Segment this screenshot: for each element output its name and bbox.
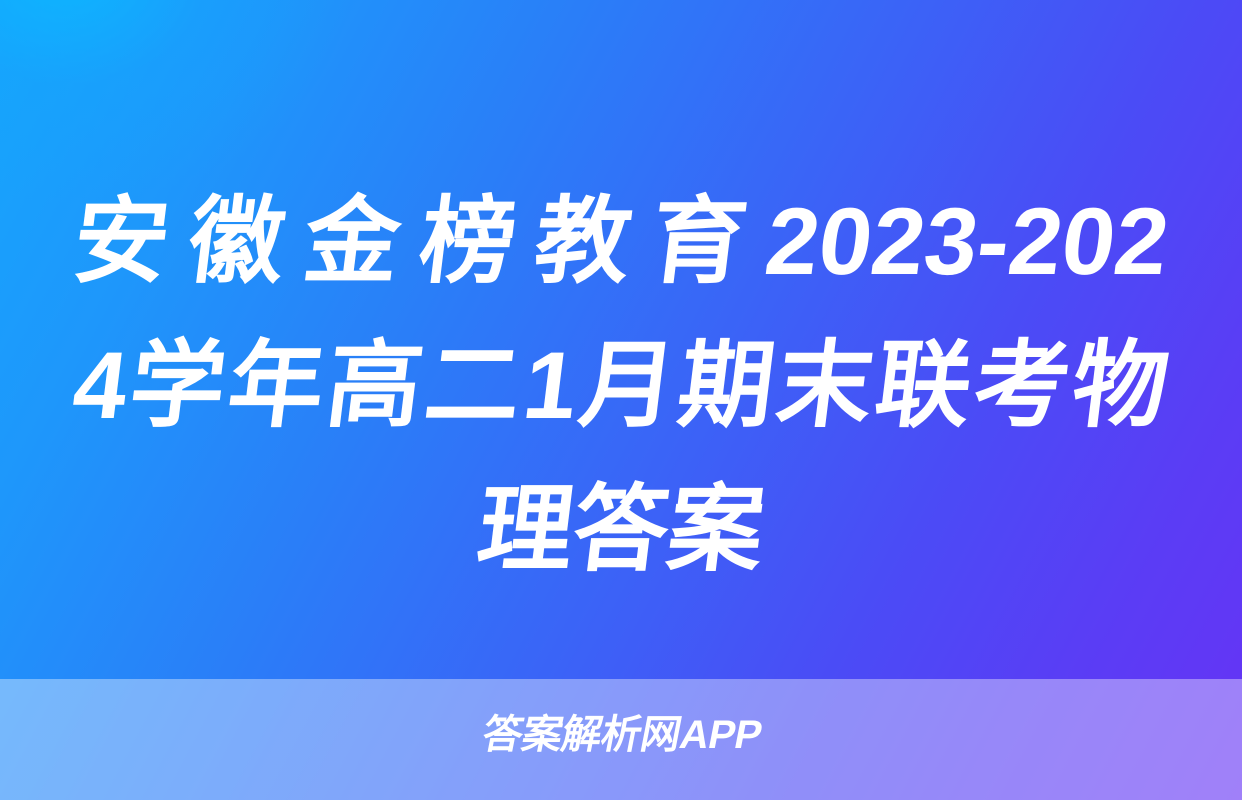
footer-brand-label: 答案解析网APP	[479, 715, 765, 755]
title-line-2-char-2: 年	[220, 314, 333, 458]
title-line-2-char-3: 高	[318, 314, 431, 458]
title-line-3: 理答案	[65, 458, 1177, 602]
title-line-2-char-11: 物	[1064, 314, 1177, 458]
title-line-2-char-8: 末	[769, 314, 882, 458]
title-line-2-char-6: 月	[572, 314, 685, 458]
title-line-2-char-7: 期	[670, 314, 783, 458]
footer-band: 答案解析网APP	[0, 679, 1242, 800]
title-line-1-char-2: 金	[296, 170, 409, 314]
title-line-2-char-4: 二	[417, 314, 530, 458]
title-line-1-char-5: 育	[642, 170, 755, 314]
title-line-1-char-0: 安	[65, 170, 178, 314]
title-line-1: 安 徽 金 榜 教 育 2023-202	[65, 170, 1177, 314]
title-line-1-char-3: 榜	[411, 170, 524, 314]
title-line-1-char-1: 徽	[181, 170, 294, 314]
title-line-1-year-range: 2023-202	[758, 170, 1177, 314]
title-line-2-char-1: 学	[121, 314, 234, 458]
poster-canvas: 安 徽 金 榜 教 育 2023-202 4 学 年 高 二 1 月 期 末 联…	[0, 0, 1242, 800]
title-line-2-char-10: 考	[966, 314, 1079, 458]
title-line-2-char-9: 联	[867, 314, 980, 458]
poster-title: 安 徽 金 榜 教 育 2023-202 4 学 年 高 二 1 月 期 末 联…	[0, 170, 1242, 602]
title-line-2: 4 学 年 高 二 1 月 期 末 联 考 物	[65, 314, 1177, 458]
title-line-1-char-4: 教	[527, 170, 640, 314]
